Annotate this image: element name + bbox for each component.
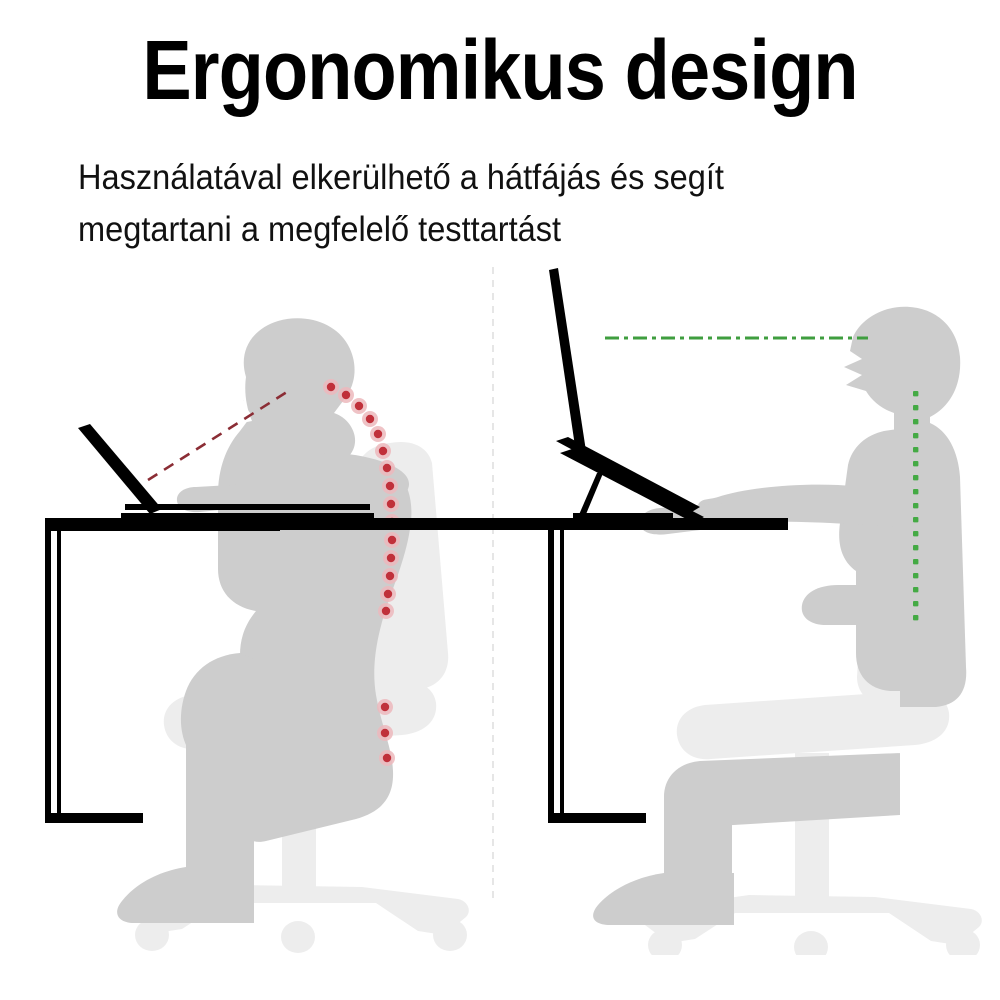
panel-good-posture	[548, 268, 982, 955]
panel-bad-posture	[45, 318, 685, 953]
page-title: Ergonomikus design	[60, 22, 940, 118]
ergonomic-design-infographic: Ergonomikus design Használatával elkerül…	[0, 0, 1000, 1000]
page-subtitle: Használatával elkerülhető a hátfájás és …	[78, 152, 878, 256]
seated-person-good-posture	[593, 307, 966, 925]
posture-comparison-illustration	[0, 255, 1000, 955]
seated-person-bad-posture	[117, 318, 411, 923]
desk-top-right	[548, 518, 783, 530]
laptop-on-stand	[549, 268, 704, 523]
